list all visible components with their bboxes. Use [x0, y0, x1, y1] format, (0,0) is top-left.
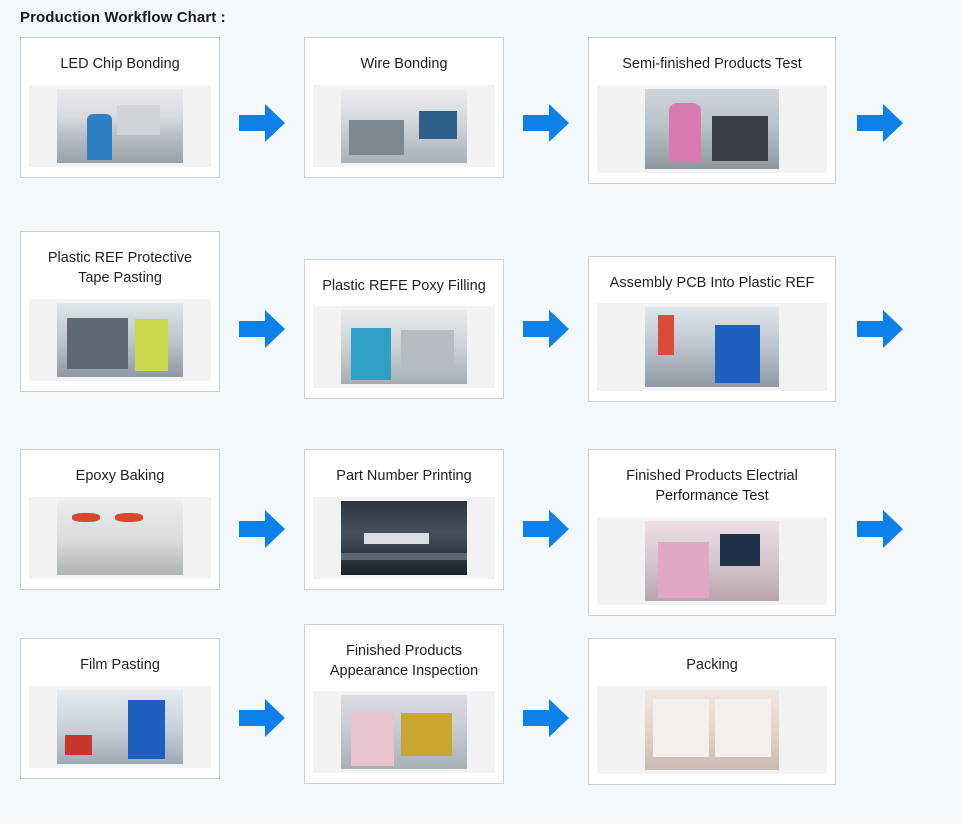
arrow-connector-row-end: [836, 231, 924, 427]
workflow-step-card[interactable]: Finished Products Electrial Performance …: [588, 449, 836, 616]
workflow-step-label: Assembly PCB Into Plastic REF: [606, 267, 819, 294]
arrow-right-icon: [523, 102, 569, 144]
workflow-step-image-tray: [29, 85, 211, 167]
workflow-row: Film Pasting Finished Products Appearanc…: [0, 638, 962, 798]
arrow-right-icon: [239, 102, 285, 144]
workflow-step-image-tray: [29, 686, 211, 768]
workflow-step-photo: [645, 307, 779, 387]
workflow-step-card[interactable]: Plastic REF Protective Tape Pasting: [20, 231, 220, 392]
arrow-right-icon: [523, 508, 569, 550]
workflow-step-image-tray: [313, 85, 495, 167]
arrow-right-icon: [523, 308, 569, 350]
page-title: Production Workflow Chart :: [0, 0, 962, 26]
workflow-step-image-tray: [313, 306, 495, 388]
workflow-step-label: Epoxy Baking: [72, 460, 169, 487]
workflow-step-photo: [645, 690, 779, 770]
production-workflow-chart: LED Chip Bonding Wire Bonding Semi-finis…: [0, 26, 962, 798]
workflow-step-card[interactable]: Packing: [588, 638, 836, 785]
workflow-step-label: Plastic REF Protective Tape Pasting: [29, 242, 211, 289]
workflow-step-card[interactable]: Plastic REFE Poxy Filling: [304, 259, 504, 400]
arrow-connector: [220, 638, 304, 798]
arrow-connector: [220, 231, 304, 427]
arrow-connector-row-end: [836, 449, 924, 609]
workflow-step-image-tray: [29, 497, 211, 579]
workflow-row: Plastic REF Protective Tape Pasting Plas…: [0, 231, 962, 427]
arrow-connector: [504, 231, 588, 427]
workflow-step-label: Packing: [682, 649, 742, 676]
arrow-connector: [504, 37, 588, 209]
arrow-connector: [220, 449, 304, 609]
row-end-spacer: [836, 638, 924, 798]
workflow-step-label: LED Chip Bonding: [56, 48, 183, 75]
arrow-right-icon: [523, 697, 569, 739]
workflow-step-card[interactable]: Finished Products Appearance Inspection: [304, 624, 504, 785]
workflow-step-image-tray: [597, 303, 827, 391]
workflow-step-photo: [341, 310, 467, 384]
arrow-connector-row-end: [836, 37, 924, 209]
workflow-row: Epoxy Baking Part Number Printing Finish…: [0, 449, 962, 616]
arrow-right-icon: [239, 508, 285, 550]
workflow-step-label: Wire Bonding: [356, 48, 451, 75]
workflow-step-image-tray: [313, 691, 495, 773]
workflow-step-card[interactable]: Part Number Printing: [304, 449, 504, 590]
workflow-step-photo: [57, 89, 183, 163]
workflow-step-image-tray: [597, 686, 827, 774]
workflow-step-image-tray: [597, 85, 827, 173]
workflow-step-photo: [341, 89, 467, 163]
workflow-step-image-tray: [313, 497, 495, 579]
workflow-step-image-tray: [597, 517, 827, 605]
workflow-step-card[interactable]: LED Chip Bonding: [20, 37, 220, 178]
arrow-connector: [504, 449, 588, 609]
arrow-connector: [504, 638, 588, 798]
workflow-step-label: Finished Products Appearance Inspection: [313, 635, 495, 682]
workflow-step-label: Plastic REFE Poxy Filling: [318, 270, 490, 297]
arrow-right-icon: [239, 697, 285, 739]
workflow-step-card[interactable]: Semi-finished Products Test: [588, 37, 836, 184]
workflow-step-label: Part Number Printing: [332, 460, 475, 487]
workflow-step-photo: [645, 521, 779, 601]
workflow-step-photo: [57, 303, 183, 377]
workflow-step-card[interactable]: Wire Bonding: [304, 37, 504, 178]
workflow-step-card[interactable]: Assembly PCB Into Plastic REF: [588, 256, 836, 403]
workflow-step-label: Film Pasting: [76, 649, 164, 676]
workflow-step-photo: [57, 501, 183, 575]
workflow-step-photo: [341, 501, 467, 575]
workflow-row: LED Chip Bonding Wire Bonding Semi-finis…: [0, 37, 962, 209]
workflow-step-card[interactable]: Epoxy Baking: [20, 449, 220, 590]
arrow-right-icon: [857, 308, 903, 350]
workflow-step-photo: [645, 89, 779, 169]
workflow-step-label: Semi-finished Products Test: [618, 48, 805, 75]
arrow-right-icon: [857, 508, 903, 550]
workflow-step-photo: [341, 695, 467, 769]
workflow-step-image-tray: [29, 299, 211, 381]
workflow-step-label: Finished Products Electrial Performance …: [597, 460, 827, 507]
arrow-right-icon: [239, 308, 285, 350]
workflow-step-card[interactable]: Film Pasting: [20, 638, 220, 779]
arrow-right-icon: [857, 102, 903, 144]
workflow-step-photo: [57, 690, 183, 764]
arrow-connector: [220, 37, 304, 209]
